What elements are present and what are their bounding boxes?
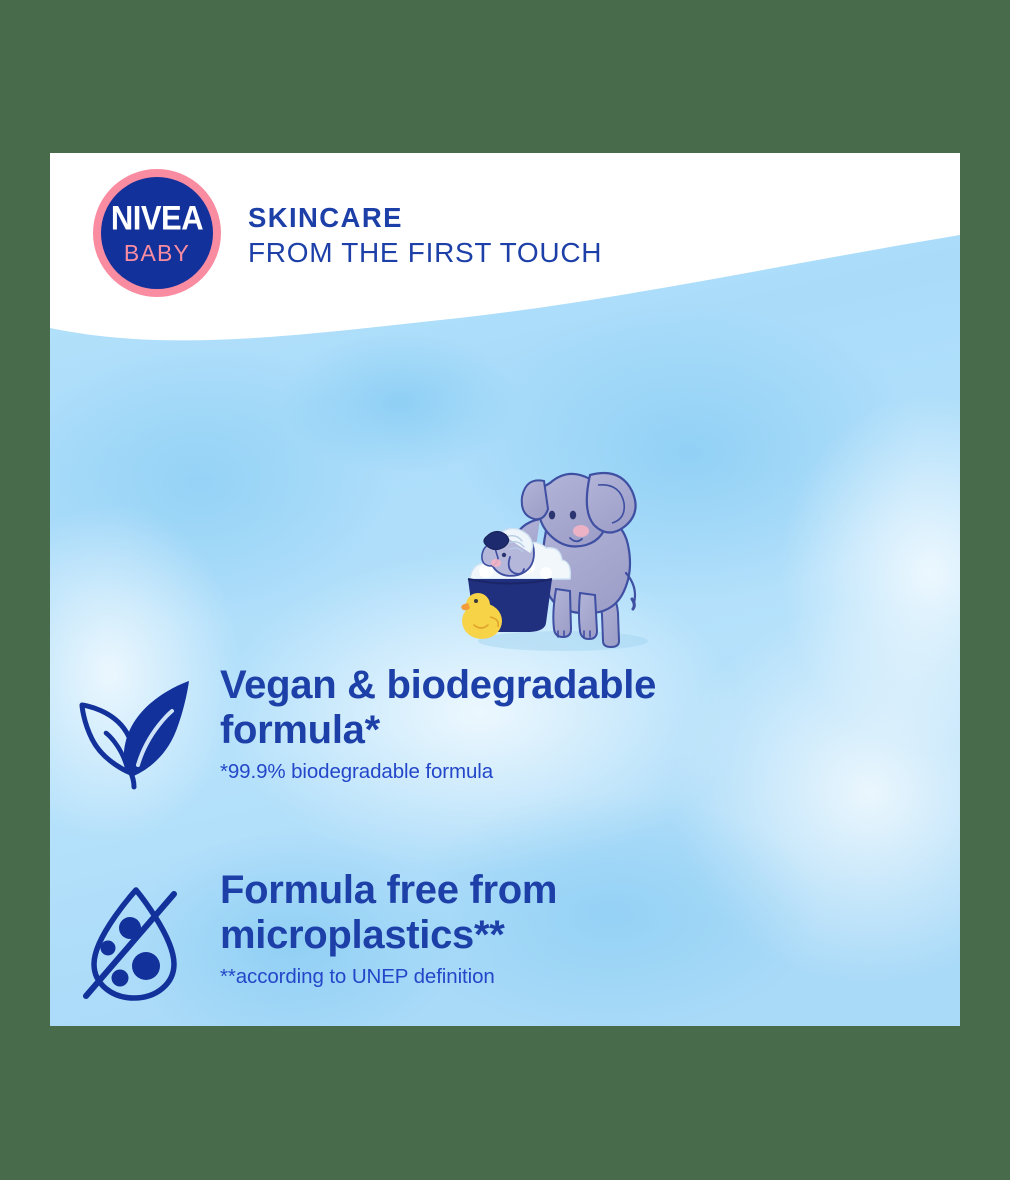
card-header: NIVEA BABY SKINCARE FROM THE FIRST TOUCH bbox=[50, 153, 960, 323]
claim-microplastics-text: Formula free from microplastics** **acco… bbox=[220, 868, 765, 989]
no-microplastics-droplet-icon bbox=[70, 880, 200, 1008]
logo-subbrand-text: BABY bbox=[124, 242, 190, 265]
claim-title: Formula free from microplastics** bbox=[220, 868, 765, 958]
claim-vegan-biodegradable: Vegan & biodegradable formula* *99.9% bi… bbox=[50, 663, 960, 790]
headline-line-2: FROM THE FIRST TOUCH bbox=[248, 235, 602, 271]
nivea-baby-logo: NIVEA BABY bbox=[93, 169, 221, 297]
logo-brand-text: NIVEA bbox=[111, 200, 203, 235]
mother-and-baby-elephant-bath-illustration bbox=[448, 453, 663, 658]
claim-note: **according to UNEP definition bbox=[220, 965, 765, 989]
claim-vegan-text: Vegan & biodegradable formula* *99.9% bi… bbox=[220, 663, 765, 784]
advertisement-card: NIVEA BABY SKINCARE FROM THE FIRST TOUCH bbox=[50, 153, 960, 1026]
no-microplastics-icon-wrapper bbox=[50, 868, 220, 1008]
leaf-icon-wrapper bbox=[50, 663, 220, 790]
claim-free-from-microplastics: Formula free from microplastics** **acco… bbox=[50, 868, 960, 1008]
header-headline: SKINCARE FROM THE FIRST TOUCH bbox=[248, 200, 602, 271]
claim-note: *99.9% biodegradable formula bbox=[220, 760, 765, 784]
leaf-icon bbox=[68, 675, 203, 790]
claims-list: Vegan & biodegradable formula* *99.9% bi… bbox=[50, 663, 960, 1008]
headline-line-1: SKINCARE bbox=[248, 200, 602, 235]
claim-title: Vegan & biodegradable formula* bbox=[220, 663, 765, 753]
